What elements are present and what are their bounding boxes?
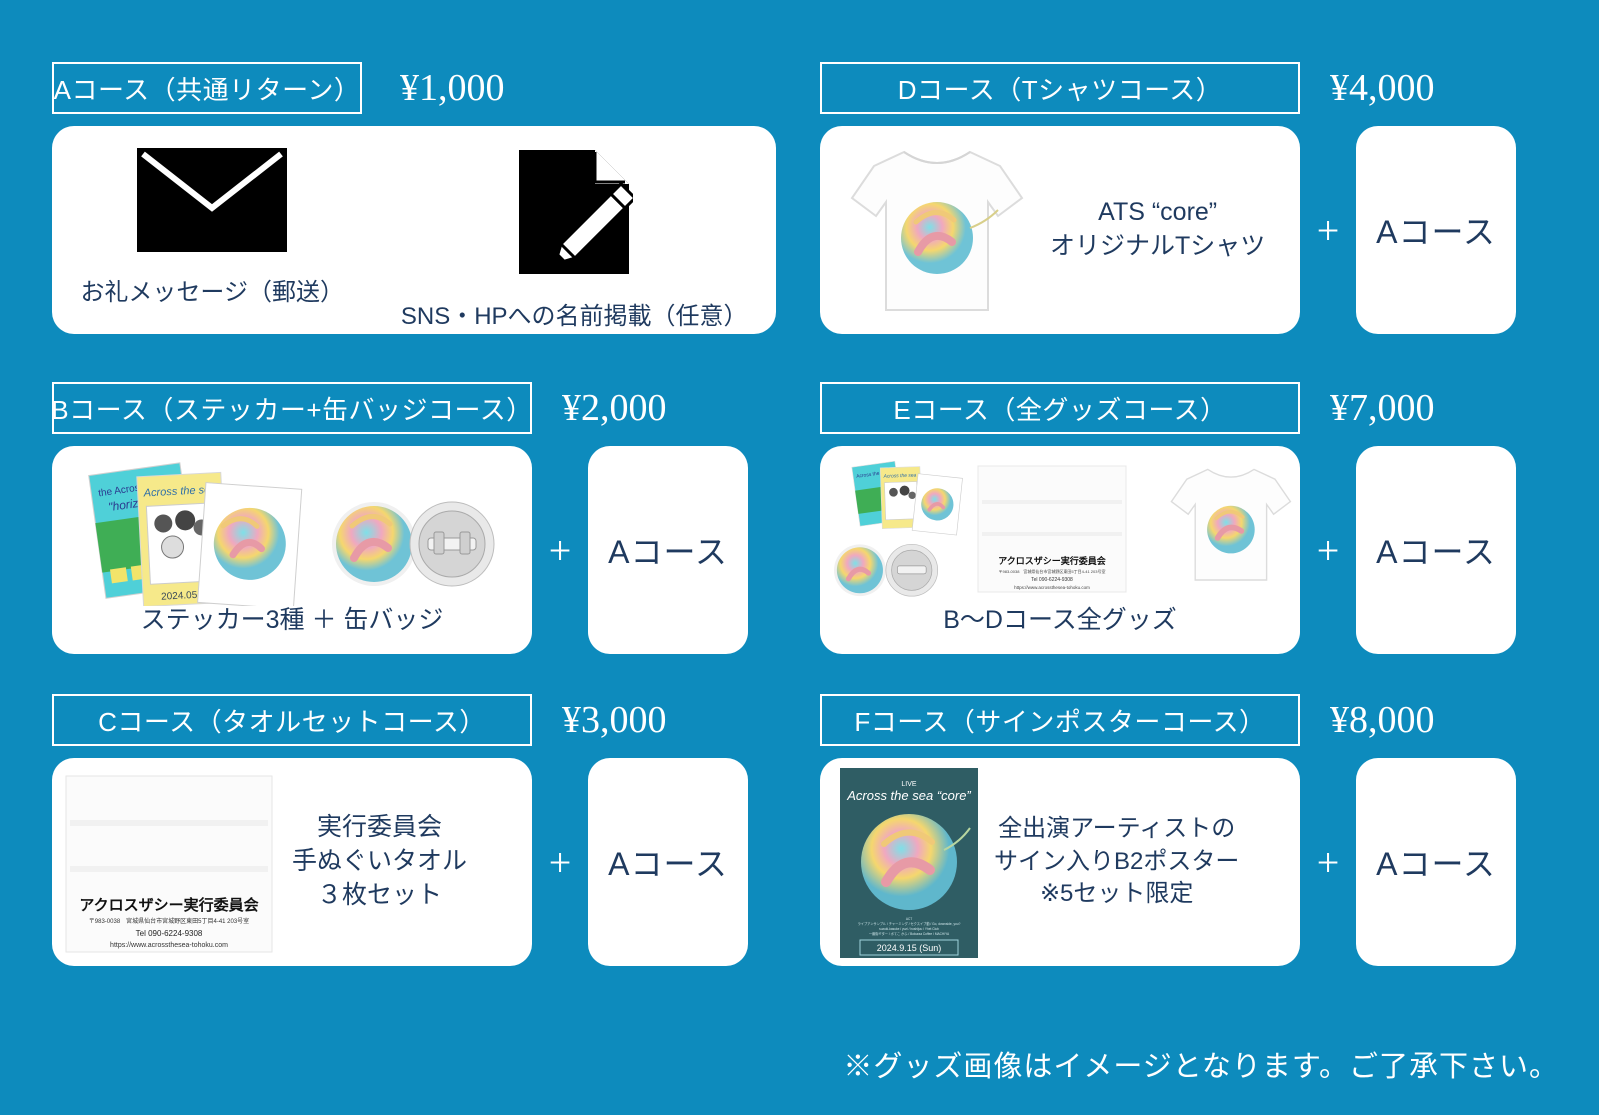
course-b-artwork: the Across the sea "horizon" Across the … xyxy=(52,446,532,606)
course-c-card: アクロスザシー実行委員会 〒983-0038 宮城県仙台市宮城野区東田5丁目4-… xyxy=(52,758,532,966)
course-d-plus-symbol: + xyxy=(1300,126,1356,334)
poster-art: LIVE Across the sea “core” ACT ライブアンサンブル… xyxy=(834,764,984,960)
course-block-c: Cコース（タオルセットコース） ¥3,000 アクロスザシー実行委員会 〒983… xyxy=(52,694,782,966)
course-f-caption-line3: ※5セット限定 xyxy=(994,878,1239,910)
course-b-card: the Across the sea "horizon" Across the … xyxy=(52,446,532,654)
course-c-caption-line2: 手ぬぐいタオル xyxy=(292,845,467,879)
course-f-caption-line1: 全出演アーティストの xyxy=(994,813,1239,845)
course-e-artwork: Across the sea Across the sea xyxy=(820,448,1300,608)
towel-address-text: 〒983-0038 宮城県仙台市宮城野区東田5丁目4-41 203号室 xyxy=(89,917,249,925)
course-f-title: Fコース（サインポスターコース） xyxy=(820,694,1300,746)
towel-art: アクロスザシー実行委員会 〒983-0038 宮城県仙台市宮城野区東田5丁目4-… xyxy=(56,762,282,962)
course-f-caption-line2: サイン入りB2ポスター xyxy=(994,846,1239,878)
course-d-caption: ATS “core” オリジナルTシャツ xyxy=(1050,196,1265,264)
course-a-card: お礼メッセージ（郵送） xyxy=(52,126,776,334)
envelope-icon xyxy=(137,148,287,252)
course-f-plus-symbol: + xyxy=(1300,758,1356,966)
course-d-header: Dコース（Tシャツコース） ¥4,000 xyxy=(820,62,1550,114)
course-block-b: Bコース（ステッカー+缶バッジコース） ¥2,000 xyxy=(52,382,782,654)
course-a-item-message-label: お礼メッセージ（郵送） xyxy=(80,272,344,307)
poster-kicker: LIVE xyxy=(901,781,917,788)
course-e-title: Eコース（全グッズコース） xyxy=(820,382,1300,434)
course-c-header: Cコース（タオルセットコース） ¥3,000 xyxy=(52,694,782,746)
svg-text:suzuki-kasuke / yuzi / hoshiju: suzuki-kasuke / yuzi / hoshijuu / Yhet C… xyxy=(879,927,939,931)
course-b-body: the Across the sea "horizon" Across the … xyxy=(52,446,782,654)
course-e-header: Eコース（全グッズコース） ¥7,000 xyxy=(820,382,1550,434)
course-a-item-credit: SNS・HPへの名前掲載（任意） xyxy=(401,148,748,331)
course-c-plus-symbol: + xyxy=(532,758,588,966)
course-a-item-credit-label: SNS・HPへの名前掲載（任意） xyxy=(401,296,748,331)
course-f-caption: 全出演アーティストの サイン入りB2ポスター ※5セット限定 xyxy=(994,813,1239,910)
course-b-plus-symbol: + xyxy=(532,446,588,654)
course-block-a: Aコース（共通リターン） ¥1,000 お礼メッセージ（郵送） xyxy=(52,62,782,334)
svg-text:ライブアンサンブル / チャーミング / セクスイブ動 /: ライブアンサンブル / チャーミング / セクスイブ動 / Go, downsi… xyxy=(858,921,961,926)
course-a-price: ¥1,000 xyxy=(400,66,505,110)
rewards-poster: Aコース（共通リターン） ¥1,000 お礼メッセージ（郵送） xyxy=(0,0,1599,1115)
svg-text:Tel 090-6224-9308: Tel 090-6224-9308 xyxy=(1031,577,1073,583)
course-b-caption: ステッカー3種 ＋ 缶バッジ xyxy=(141,604,444,638)
course-c-addon-acourse: Aコース xyxy=(588,758,748,966)
course-block-f: Fコース（サインポスターコース） ¥8,000 xyxy=(820,694,1550,966)
svg-text:アクロスザシー実行委員会: アクロスザシー実行委員会 xyxy=(998,555,1107,566)
course-c-body: アクロスザシー実行委員会 〒983-0038 宮城県仙台市宮城野区東田5丁目4-… xyxy=(52,758,782,966)
course-d-caption-line2: オリジナルTシャツ xyxy=(1050,230,1265,264)
course-d-artwork xyxy=(830,130,1044,330)
course-e-price: ¥7,000 xyxy=(1330,386,1435,430)
stickers-and-badge-art: the Across the sea "horizon" Across the … xyxy=(52,446,532,606)
envelope-icon-svg xyxy=(137,148,287,252)
course-f-price: ¥8,000 xyxy=(1330,698,1435,742)
towel-url-text: https://www.acrossthesea-tohoku.com xyxy=(110,942,228,949)
course-c-caption: 実行委員会 手ぬぐいタオル ３枚セット xyxy=(292,811,467,912)
course-e-card: Across the sea Across the sea xyxy=(820,446,1300,654)
course-f-addon-acourse: Aコース xyxy=(1356,758,1516,966)
course-e-plus-symbol: + xyxy=(1300,446,1356,654)
poster-title: Across the sea “core” xyxy=(846,788,971,803)
course-f-artwork: LIVE Across the sea “core” ACT ライブアンサンブル… xyxy=(834,764,984,960)
course-b-price: ¥2,000 xyxy=(562,386,667,430)
course-d-caption-line1: ATS “core” xyxy=(1050,196,1265,230)
svg-text:〒983-0038 宮城県仙台市宮城野区東田5丁目4-41: 〒983-0038 宮城県仙台市宮城野区東田5丁目4-41 203号室 xyxy=(999,568,1106,574)
poster-date: 2024.9.15 (Sun) xyxy=(877,943,942,953)
image-disclaimer-footnote: ※グッズ画像はイメージとなります。ご了承下さい。 xyxy=(843,1043,1559,1085)
course-b-header: Bコース（ステッカー+缶バッジコース） ¥2,000 xyxy=(52,382,782,434)
svg-text:https://www.acrossthesea-tohok: https://www.acrossthesea-tohoku.com xyxy=(1014,585,1090,590)
course-e-addon-acourse: Aコース xyxy=(1356,446,1516,654)
course-d-card: ATS “core” オリジナルTシャツ xyxy=(820,126,1300,334)
course-a-header: Aコース（共通リターン） ¥1,000 xyxy=(52,62,782,114)
course-f-header: Fコース（サインポスターコース） ¥8,000 xyxy=(820,694,1550,746)
course-a-item-message: お礼メッセージ（郵送） xyxy=(80,148,344,307)
course-c-artwork: アクロスザシー実行委員会 〒983-0038 宮城県仙台市宮城野区東田5丁目4-… xyxy=(56,762,282,962)
course-d-addon-acourse: Aコース xyxy=(1356,126,1516,334)
course-b-title: Bコース（ステッカー+缶バッジコース） xyxy=(52,382,532,434)
course-block-e: Eコース（全グッズコース） ¥7,000 xyxy=(820,382,1550,654)
course-d-title: Dコース（Tシャツコース） xyxy=(820,62,1300,114)
course-c-price: ¥3,000 xyxy=(562,698,667,742)
svg-text:ACT: ACT xyxy=(906,917,912,921)
course-d-price: ¥4,000 xyxy=(1330,66,1435,110)
towel-tel-text: Tel 090-6224-9308 xyxy=(136,929,203,938)
document-pencil-icon xyxy=(515,148,633,276)
course-c-caption-line1: 実行委員会 xyxy=(292,811,467,845)
course-d-body: ATS “core” オリジナルTシャツ + Aコース xyxy=(820,126,1550,334)
tshirt-art xyxy=(830,130,1044,330)
document-pencil-icon-svg xyxy=(515,148,633,276)
course-e-caption: B〜Dコース全グッズ xyxy=(943,604,1176,638)
course-e-body: Across the sea Across the sea xyxy=(820,446,1550,654)
course-c-title: Cコース（タオルセットコース） xyxy=(52,694,532,746)
course-block-d: Dコース（Tシャツコース） ¥4,000 xyxy=(820,62,1550,334)
towel-org-text: アクロスザシー実行委員会 xyxy=(79,896,258,914)
course-f-card: LIVE Across the sea “core” ACT ライブアンサンブル… xyxy=(820,758,1300,966)
all-goods-art: Across the sea Across the sea xyxy=(820,448,1300,608)
course-c-caption-line3: ３枚セット xyxy=(292,879,467,913)
course-f-body: LIVE Across the sea “core” ACT ライブアンサンブル… xyxy=(820,758,1550,966)
course-a-title: Aコース（共通リターン） xyxy=(52,62,362,114)
svg-text:一番街ギター / ポてこ かふ / Bokuraa Coff: 一番街ギター / ポてこ かふ / Bokuraa Coffee / MACHI… xyxy=(869,931,950,936)
course-b-addon-acourse: Aコース xyxy=(588,446,748,654)
course-a-body: お礼メッセージ（郵送） xyxy=(52,126,782,334)
